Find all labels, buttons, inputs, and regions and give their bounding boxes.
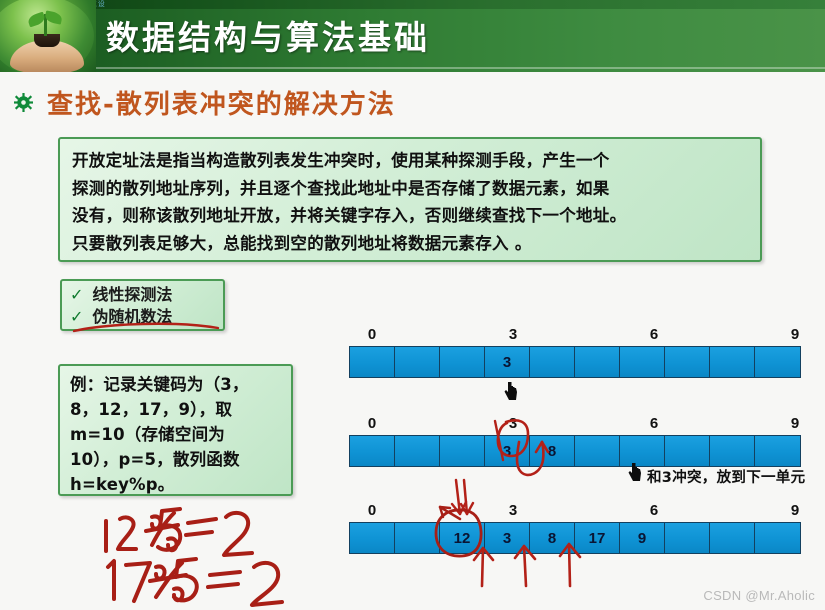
table-cell: 9 [620, 523, 665, 553]
definition-line: 开放定址法是指当构造散列表发生冲突时，使用某种探测手段，产生一个 [72, 147, 752, 175]
table-cell [440, 347, 485, 377]
table-cell [755, 523, 800, 553]
table-row: 12 3 8 17 9 [349, 522, 801, 554]
table-cell [710, 347, 755, 377]
table-cell [665, 436, 710, 466]
check-icon: ✓ [70, 306, 83, 328]
index-label-row: 0 3 6 9 [349, 415, 801, 435]
table-cell [350, 347, 395, 377]
table-row: 3 8 [349, 435, 801, 467]
definition-text-content: 开放定址法是指当构造散列表发生冲突时，使用某种探测手段，产生一个 探测的散列地址… [60, 139, 760, 257]
table-cell [530, 347, 575, 377]
table-cell [665, 523, 710, 553]
table-cell [575, 347, 620, 377]
header-banner: 现代 教育 技术 微课程 建设 数据结构与算法基础 [0, 0, 825, 72]
table-cell: 8 [530, 523, 575, 553]
table-cell [395, 523, 440, 553]
table-cell [440, 436, 485, 466]
index-label-row: 0 3 6 9 [349, 502, 801, 522]
method-label: 线性探测法 [92, 284, 172, 306]
banner-underline [96, 67, 825, 69]
table-cell [755, 347, 800, 377]
example-line: m=10（存储空间为 [70, 422, 287, 447]
table-cell: 3 [485, 347, 530, 377]
index-label: 0 [349, 415, 395, 432]
index-label: 9 [772, 502, 818, 519]
table-cell: 17 [575, 523, 620, 553]
table-cell [395, 347, 440, 377]
index-label: 0 [349, 326, 395, 343]
table-cell [665, 347, 710, 377]
method-list-item: ✓ 线性探测法 [70, 284, 217, 306]
watermark: CSDN @Mr.Aholic [703, 588, 815, 603]
page-title: 数据结构与算法基础 [106, 11, 430, 59]
handwritten-modulo-formulas [100, 505, 325, 605]
collision-annotation-text: 和3冲突，放到下一单元 [647, 466, 805, 487]
check-icon: ✓ [70, 284, 83, 306]
table-cell [620, 436, 665, 466]
index-label: 6 [631, 326, 677, 343]
table-cell: 3 [485, 436, 530, 466]
table-cell [710, 523, 755, 553]
hash-table-step-1: 0 3 6 9 3 [349, 326, 801, 378]
slide-canvas: 现代 教育 技术 微课程 建设 数据结构与算法基础 [0, 0, 825, 610]
table-cell [710, 436, 755, 466]
index-label: 3 [490, 415, 536, 432]
methods-list-box: ✓ 线性探测法 ✓ 伪随机数法 [60, 279, 225, 331]
example-line: 10），p=5，散列函数 [70, 447, 287, 472]
hash-table-step-3: 0 3 6 9 12 3 8 17 9 [349, 502, 801, 554]
definition-line: 只要散列表足够大，总能找到空的散列地址将数据元素存入 。 [72, 230, 752, 258]
table-cell: 8 [530, 436, 575, 466]
example-text-content: 例：记录关键码为（3， 8，12，17，9），取 m=10（存储空间为 10），… [60, 366, 291, 497]
table-cell [395, 436, 440, 466]
gear-bullet-icon [14, 93, 33, 112]
hash-table-step-2: 0 3 6 9 3 8 [349, 415, 801, 467]
index-label: 9 [772, 415, 818, 432]
banner-logo-photo [0, 0, 96, 72]
index-label: 3 [490, 502, 536, 519]
example-line: h=key%p。 [70, 472, 287, 497]
method-label: 伪随机数法 [92, 306, 172, 328]
table-cell [620, 347, 665, 377]
example-text-box: 例：记录关键码为（3， 8，12，17，9），取 m=10（存储空间为 10），… [58, 364, 293, 496]
table-cell [350, 436, 395, 466]
index-label: 3 [490, 326, 536, 343]
banner-top-strip: 现代 教育 技术 微课程 建设 [0, 0, 825, 9]
table-cell: 3 [485, 523, 530, 553]
hand-cursor-icon [503, 381, 519, 401]
definition-text-box: 开放定址法是指当构造散列表发生冲突时，使用某种探测手段，产生一个 探测的散列地址… [58, 137, 762, 262]
table-row: 3 [349, 346, 801, 378]
index-label: 9 [772, 326, 818, 343]
table-cell [350, 523, 395, 553]
example-line: 例：记录关键码为（3， [70, 372, 287, 397]
section-title: 查找-散列表冲突的解决方法 [47, 84, 396, 121]
index-label-row: 0 3 6 9 [349, 326, 801, 346]
methods-list-content: ✓ 线性探测法 ✓ 伪随机数法 [62, 281, 223, 331]
table-cell [755, 436, 800, 466]
soil-pot-shape [34, 34, 60, 47]
definition-line: 没有，则称该散列地址开放，并将关键字存入，否则继续查找下一个地址。 [72, 202, 752, 230]
table-cell: 12 [440, 523, 485, 553]
section-heading: 查找-散列表冲突的解决方法 [14, 84, 396, 121]
index-label: 0 [349, 502, 395, 519]
table-cell [575, 436, 620, 466]
method-list-item: ✓ 伪随机数法 [70, 306, 217, 328]
index-label: 6 [631, 415, 677, 432]
definition-line: 探测的散列地址序列，并且逐个查找此地址中是否存储了数据元素，如果 [72, 175, 752, 203]
example-line: 8，12，17，9），取 [70, 397, 287, 422]
index-label: 6 [631, 502, 677, 519]
